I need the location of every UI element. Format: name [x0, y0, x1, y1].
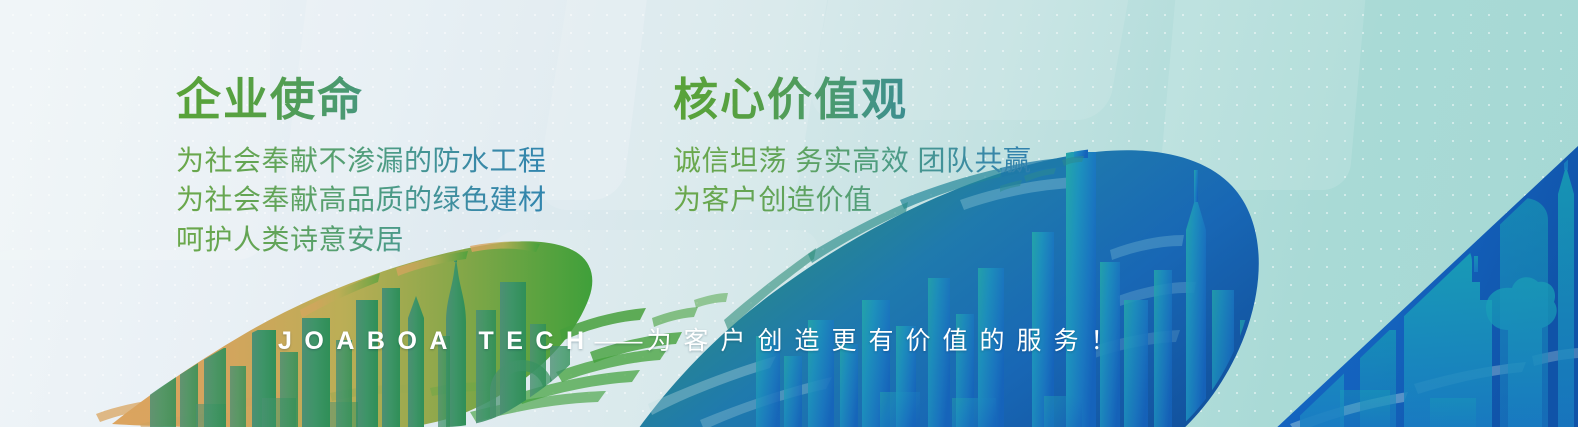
- hero-banner: 企业使命 为社会奉献不渗漏的防水工程 为社会奉献高品质的绿色建材 呵护人类诗意安…: [0, 0, 1578, 427]
- values-block: 核心价值观 诚信坦荡 务实高效 团队共赢 为客户创造价值: [673, 76, 1032, 220]
- band-skyline: [1300, 140, 1574, 427]
- mission-line: 呵护人类诗意安居: [176, 220, 547, 260]
- tagline-dash: ——: [595, 328, 643, 356]
- right-blue-band: [1272, 140, 1578, 427]
- mission-line: 为社会奉献不渗漏的防水工程: [176, 141, 547, 181]
- brand-name: JOABOA TECH: [278, 327, 597, 356]
- values-heading: 核心价值观: [673, 76, 1032, 125]
- mission-lines: 为社会奉献不渗漏的防水工程 为社会奉献高品质的绿色建材 呵护人类诗意安居: [176, 141, 547, 260]
- tagline-slogan: 为客户创造更有价值的服务！: [647, 321, 1128, 357]
- mission-heading: 企业使命: [176, 76, 547, 125]
- mission-line: 为社会奉献高品质的绿色建材: [176, 180, 547, 220]
- values-line: 为客户创造价值: [673, 180, 1032, 220]
- values-lines: 诚信坦荡 务实高效 团队共赢 为客户创造价值: [673, 141, 1032, 221]
- values-line: 诚信坦荡 务实高效 团队共赢: [673, 141, 1032, 181]
- bottom-tagline: JOABOA TECH —— 为客户创造更有价值的服务！: [278, 321, 1128, 357]
- mission-block: 企业使命 为社会奉献不渗漏的防水工程 为社会奉献高品质的绿色建材 呵护人类诗意安…: [176, 76, 547, 260]
- background-panel: [1159, 0, 1372, 190]
